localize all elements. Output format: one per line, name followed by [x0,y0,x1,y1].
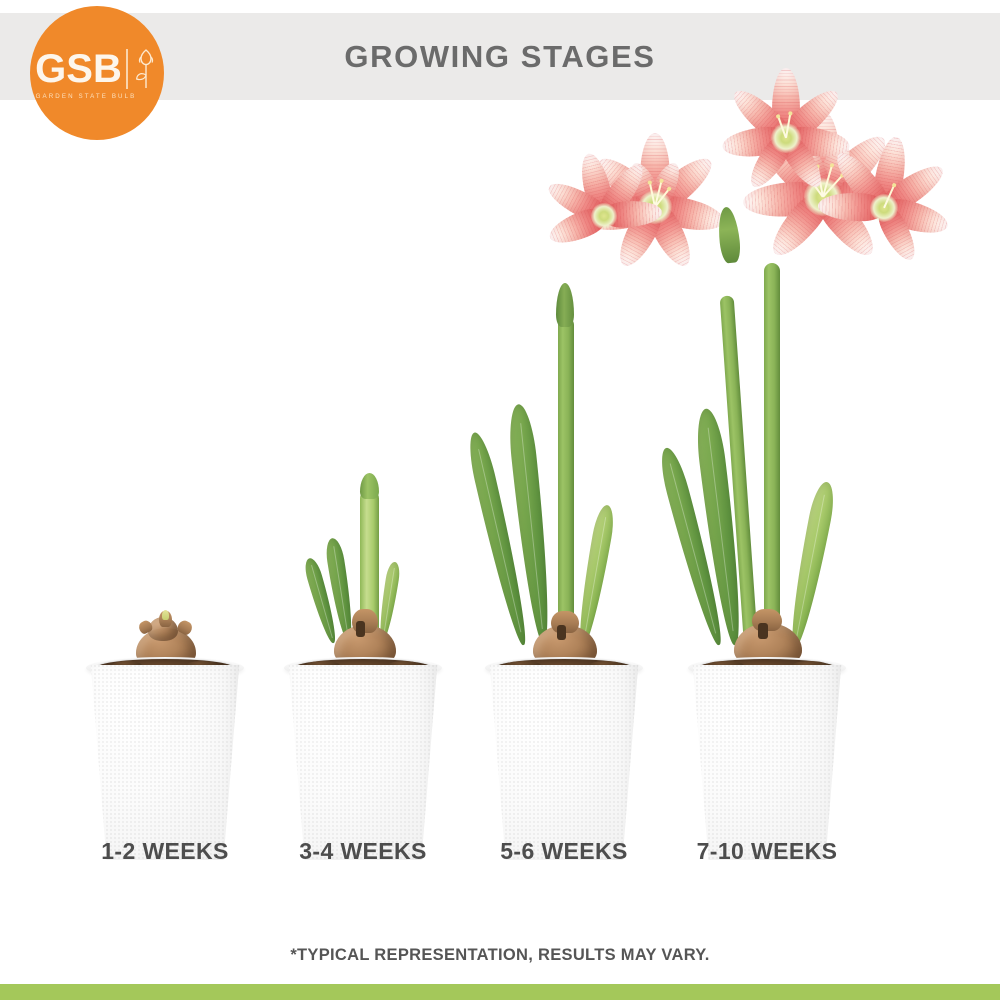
growing-stages-infographic: GROWING STAGES GSB GARDEN STATE BULB [0,0,1000,1000]
flower-throat [591,203,617,229]
tulip-icon [133,47,159,91]
stage-1 [86,655,244,860]
plant-pot [485,655,643,860]
plant-pot [284,655,442,860]
plant-pot [86,655,244,860]
shoot-tip [360,473,379,499]
stage-label-4: 7-10 WEEKS [697,838,838,865]
logo-tagline: GARDEN STATE BULB [36,93,137,100]
logo-text: GSB [35,50,122,88]
pot-texture [86,665,244,860]
bottom-accent-bar [0,984,1000,1000]
flower-cluster [583,55,913,325]
stages-scene [0,100,1000,860]
leaf [573,504,617,649]
amaryllis-flower [539,151,669,281]
pot-texture [284,665,442,860]
logo-row: GSB [35,47,159,91]
flower-stalk [558,317,574,645]
stage-label-1: 1-2 WEEKS [101,838,229,865]
stage-4 [688,100,846,860]
pot-texture [485,665,643,860]
stage-3 [485,260,643,860]
footnote: *TYPICAL REPRESENTATION, RESULTS MAY VAR… [0,946,1000,965]
pot-texture [688,665,846,860]
plant-pot [688,655,846,860]
stage-labels: 1-2 WEEKS 3-4 WEEKS 5-6 WEEKS 7-10 WEEKS [0,838,1000,878]
flower-bud [556,283,574,327]
amaryllis-flower [809,133,959,283]
stage-label-2: 3-4 WEEKS [299,838,427,865]
stage-2 [284,460,442,860]
logo-divider [126,49,128,89]
stage-label-3: 5-6 WEEKS [500,838,628,865]
leaf [784,480,838,649]
